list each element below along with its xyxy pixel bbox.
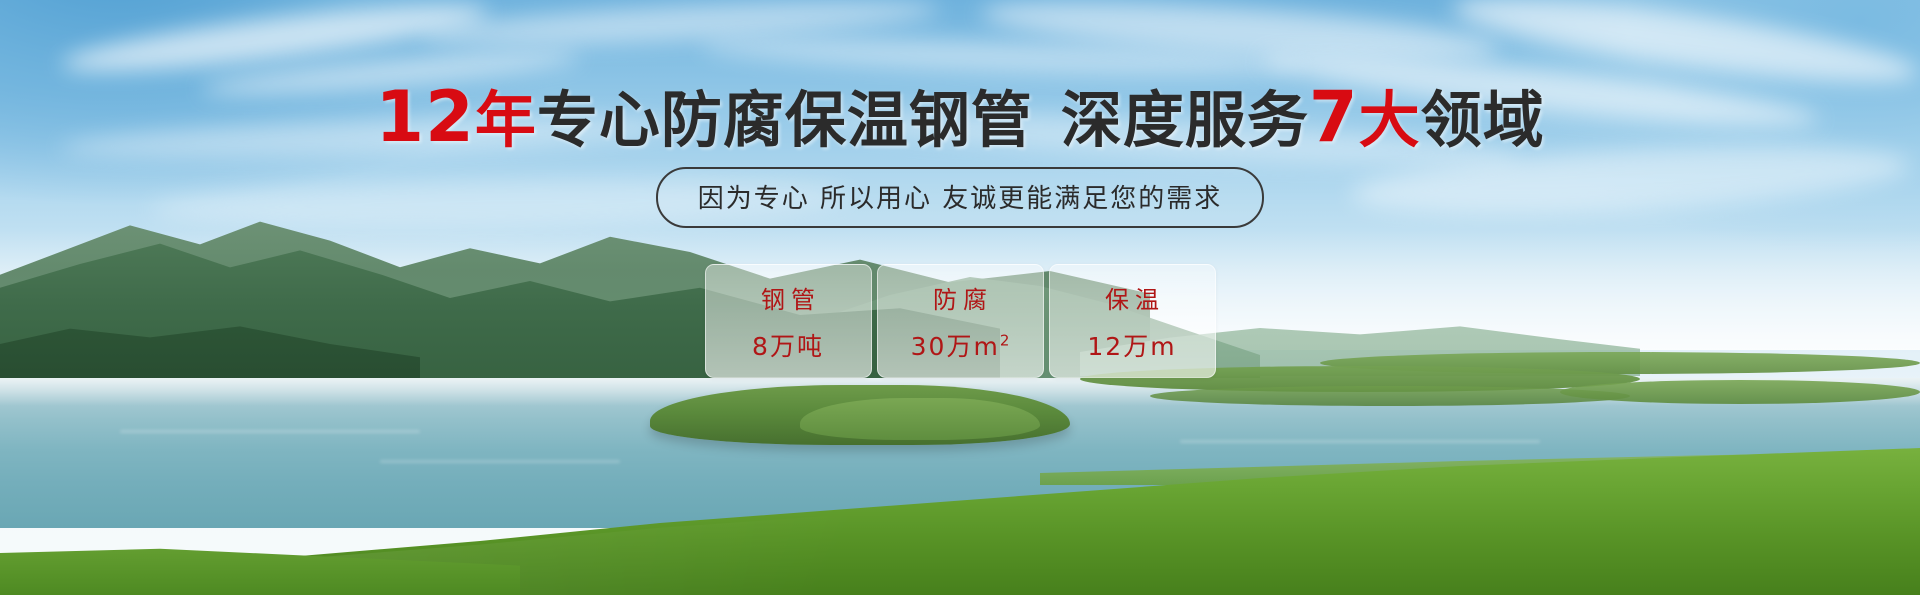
lake-island-secondary	[800, 398, 1040, 440]
water-ripple	[1180, 440, 1540, 443]
stat-card-value: 12万m	[1087, 327, 1176, 363]
banner-headline: 12年专心防腐保温钢管深度服务7大领域	[0, 82, 1920, 152]
water-ripple	[380, 460, 620, 463]
stat-card-value-text: 30万m	[911, 332, 1000, 361]
stat-card-value-sup: 2	[1000, 331, 1010, 349]
headline-years-number: 12	[375, 76, 474, 158]
stat-card-insulation[interactable]: 保温 12万m	[1049, 264, 1216, 378]
stat-card-value-text: 8万吨	[752, 332, 824, 361]
banner-subtitle-pill: 因为专心 所以用心 友诚更能满足您的需求	[656, 167, 1265, 228]
stat-card-label: 钢管	[755, 280, 821, 315]
headline-fields-unit: 大	[1359, 85, 1421, 156]
stat-card-value: 8万吨	[752, 327, 824, 363]
stat-card-label: 保温	[1099, 280, 1165, 315]
headline-fields-number: 7	[1309, 76, 1359, 158]
stat-card-anticorrosion[interactable]: 防腐 30万m2	[877, 264, 1044, 378]
marsh-strip	[1560, 380, 1920, 404]
headline-fields-text: 领域	[1421, 85, 1545, 156]
marsh-strip	[1150, 386, 1630, 406]
headline-years-unit: 年	[475, 85, 537, 156]
stat-card-value-text: 12万m	[1087, 332, 1176, 361]
water-ripple	[120, 430, 420, 433]
stat-card-label: 防腐	[927, 280, 993, 315]
headline-service-text: 深度服务	[1061, 85, 1309, 156]
promo-banner: 12年专心防腐保温钢管深度服务7大领域 因为专心 所以用心 友诚更能满足您的需求…	[0, 0, 1920, 595]
stat-card-value: 30万m2	[911, 327, 1010, 363]
headline-main-text: 专心防腐保温钢管	[537, 85, 1033, 156]
stat-card-group: 钢管 8万吨 防腐 30万m2 保温 12万m	[0, 264, 1920, 378]
stat-card-steel-pipe[interactable]: 钢管 8万吨	[705, 264, 872, 378]
banner-subtitle-wrap: 因为专心 所以用心 友诚更能满足您的需求	[0, 167, 1920, 228]
